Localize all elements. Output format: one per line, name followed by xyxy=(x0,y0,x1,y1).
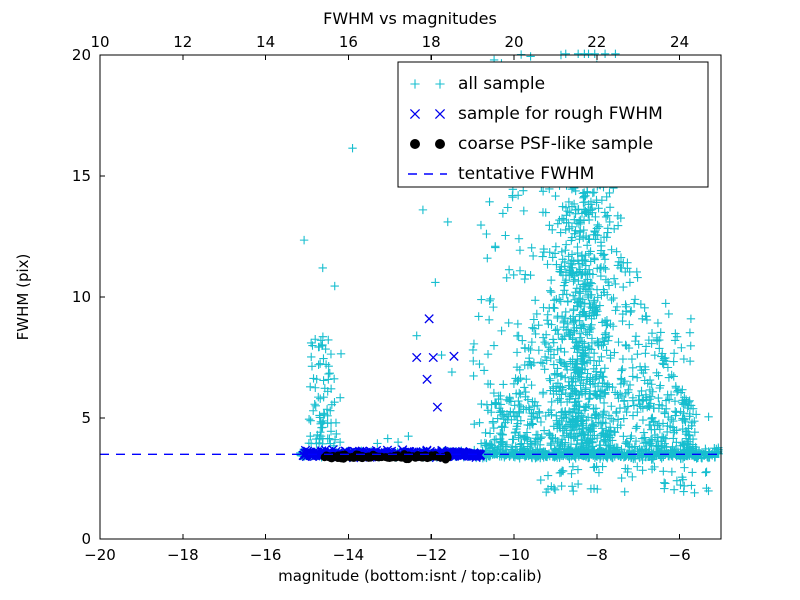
legend-label-tentative-fwhm: tentative FWHM xyxy=(458,164,594,184)
x-tick-label: −18 xyxy=(167,546,199,564)
x-tick-label: −12 xyxy=(415,546,447,564)
x-top-tick-label: 12 xyxy=(173,33,192,51)
y-tick-label: 5 xyxy=(81,409,91,427)
legend-label-coarse-psf-like-sample: coarse PSF-like sample xyxy=(458,134,653,154)
x-top-tick-label: 16 xyxy=(339,33,358,51)
x-tick-label: −6 xyxy=(669,546,691,564)
legend-label-all-sample: all sample xyxy=(458,74,545,94)
legend-label-sample-for-rough-fwhm: sample for rough FWHM xyxy=(458,104,663,124)
x-top-tick-label: 10 xyxy=(90,33,109,51)
x-axis-label: magnitude (bottom:isnt / top:calib) xyxy=(278,567,542,585)
x-top-tick-label: 20 xyxy=(504,33,523,51)
chart-title: FWHM vs magnitudes xyxy=(323,9,497,28)
x-top-tick-label: 24 xyxy=(670,33,689,51)
x-tick-label: −8 xyxy=(586,546,608,564)
y-tick-label: 0 xyxy=(81,530,91,548)
y-tick-label: 20 xyxy=(72,46,91,64)
y-tick-label: 10 xyxy=(72,288,91,306)
x-tick-label: −10 xyxy=(498,546,530,564)
x-tick-label: −14 xyxy=(333,546,365,564)
y-axis-label: FWHM (pix) xyxy=(14,254,32,341)
chart-legend[interactable]: all sample sample for rough FWHM coarse … xyxy=(398,62,708,187)
x-tick-label: −16 xyxy=(250,546,282,564)
x-top-tick-label: 22 xyxy=(587,33,606,51)
y-tick-label: 15 xyxy=(72,167,91,185)
x-tick-label: −20 xyxy=(84,546,116,564)
scatter-chart: −20−18−16−14−12−10−8−6 1012141618202224 … xyxy=(0,0,800,600)
figure-canvas: −20−18−16−14−12−10−8−6 1012141618202224 … xyxy=(0,0,800,600)
x-top-tick-label: 14 xyxy=(256,33,275,51)
x-top-tick-label: 18 xyxy=(422,33,441,51)
